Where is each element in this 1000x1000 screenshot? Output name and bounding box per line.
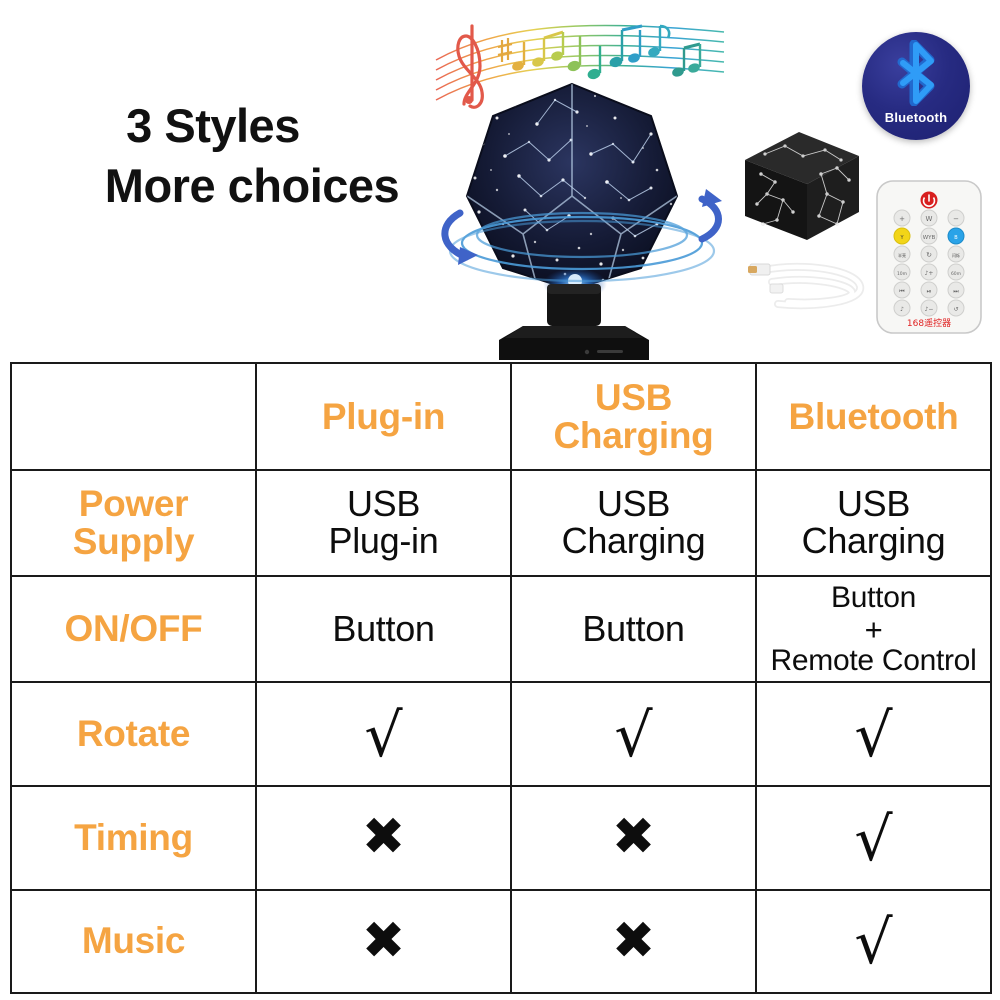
row-label-power-supply: Power Supply xyxy=(11,470,256,576)
table-header-row: Plug-in USB Charging Bluetooth xyxy=(11,363,991,470)
header-cell-bluetooth: Bluetooth xyxy=(756,363,991,470)
row-label-rotate: Rotate xyxy=(11,682,256,786)
cell-onoff-plug-in: Button xyxy=(256,576,511,682)
row-label-power-line2: Supply xyxy=(73,521,195,562)
table-row-power-supply: Power Supply USB Plug-in USB Charging US… xyxy=(11,470,991,576)
remote-control: +W− WYB ↻ 10m♪+60m ⏮⏯⏭ ♪♪−↺ YB 半亮闪烁 168遥… xyxy=(872,178,986,336)
cell-music-usb-charging: ✖ xyxy=(511,890,756,993)
table-row-on-off: ON/OFF Button Button Button + Remote Con… xyxy=(11,576,991,682)
svg-text:B: B xyxy=(954,235,958,241)
check-icon: √ xyxy=(614,712,652,760)
cell-onoff-usb-charging: Button xyxy=(511,576,756,682)
bluetooth-badge-label: Bluetooth xyxy=(862,110,970,125)
cross-icon: ✖ xyxy=(612,817,656,859)
header-cell-plug-in: Plug-in xyxy=(256,363,511,470)
svg-text:↺: ↺ xyxy=(953,306,958,313)
cell-music-plug-in: ✖ xyxy=(256,890,511,993)
comparison-table-wrapper: Plug-in USB Charging Bluetooth Power Sup… xyxy=(0,355,1000,1000)
hero-section: 3 Styles More choices xyxy=(0,0,1000,360)
headline-line-1: 3 Styles xyxy=(52,96,452,156)
cell-power-usb-line1: USB xyxy=(597,483,670,524)
table-row-music: Music ✖ ✖ √ xyxy=(11,890,991,993)
cross-icon: ✖ xyxy=(612,921,656,963)
remote-model-label: 168遥控器 xyxy=(907,317,951,329)
header-usb-line1: USB xyxy=(595,377,672,418)
header-cell-empty xyxy=(11,363,256,470)
cell-rotate-usb-charging: √ xyxy=(511,682,756,786)
cell-onoff-bt-line1: Button xyxy=(831,581,916,614)
table-row-rotate: Rotate √ √ √ xyxy=(11,682,991,786)
cell-power-bt-line1: USB xyxy=(837,483,910,524)
header-usb-line2: Charging xyxy=(554,415,714,456)
svg-text:10m: 10m xyxy=(897,271,907,277)
svg-text:闪烁: 闪烁 xyxy=(952,252,960,258)
cell-power-plug-in-line1: USB xyxy=(347,483,420,524)
svg-text:♪: ♪ xyxy=(900,306,904,313)
rotation-arrows-icon xyxy=(430,185,730,300)
svg-text:−: − xyxy=(953,215,959,223)
cell-onoff-bluetooth: Button + Remote Control xyxy=(756,576,991,682)
svg-text:⏭: ⏭ xyxy=(953,288,959,295)
svg-text:WYB: WYB xyxy=(923,235,936,241)
cell-music-bluetooth: √ xyxy=(756,890,991,993)
cell-power-plug-in: USB Plug-in xyxy=(256,470,511,576)
headline-line-2: More choices xyxy=(52,156,452,216)
svg-text:⏯: ⏯ xyxy=(927,288,932,295)
cell-power-usb-charging: USB Charging xyxy=(511,470,756,576)
cross-icon: ✖ xyxy=(362,921,406,963)
cell-power-bt-line2: Charging xyxy=(802,520,946,561)
header-cell-usb-charging: USB Charging xyxy=(511,363,756,470)
cross-icon: ✖ xyxy=(362,817,406,859)
check-icon: √ xyxy=(854,712,892,760)
comparison-table: Plug-in USB Charging Bluetooth Power Sup… xyxy=(10,362,992,994)
svg-text:W: W xyxy=(926,215,933,223)
svg-text:♪−: ♪− xyxy=(925,306,934,313)
check-icon: √ xyxy=(854,919,892,967)
svg-text:60m: 60m xyxy=(951,271,961,277)
bluetooth-icon xyxy=(888,40,944,106)
cell-rotate-plug-in: √ xyxy=(256,682,511,786)
product-comparison-image: 3 Styles More choices xyxy=(0,0,1000,1000)
row-label-power-line1: Power xyxy=(79,483,189,524)
row-label-timing: Timing xyxy=(11,786,256,890)
cell-onoff-bt-plus: + xyxy=(759,614,988,645)
cell-power-plug-in-line2: Plug-in xyxy=(329,520,439,561)
cell-timing-bluetooth: √ xyxy=(756,786,991,890)
cell-timing-plug-in: ✖ xyxy=(256,786,511,890)
page-title: 3 Styles More choices xyxy=(52,96,452,216)
svg-text:半亮: 半亮 xyxy=(898,252,906,258)
cell-onoff-bt-line3: Remote Control xyxy=(771,644,977,677)
bluetooth-badge: Bluetooth xyxy=(862,32,970,140)
cell-power-bluetooth: USB Charging xyxy=(756,470,991,576)
svg-text:↻: ↻ xyxy=(926,251,932,259)
cell-rotate-bluetooth: √ xyxy=(756,682,991,786)
cell-timing-usb-charging: ✖ xyxy=(511,786,756,890)
row-label-music: Music xyxy=(11,890,256,993)
cell-power-usb-line2: Charging xyxy=(562,520,706,561)
svg-text:+: + xyxy=(899,215,905,223)
svg-text:⏮: ⏮ xyxy=(899,288,905,295)
check-icon: √ xyxy=(364,712,402,760)
constellation-gift-box xyxy=(737,124,865,249)
svg-text:♪+: ♪+ xyxy=(925,270,934,277)
table-row-timing: Timing ✖ ✖ √ xyxy=(11,786,991,890)
check-icon: √ xyxy=(854,816,892,864)
row-label-on-off: ON/OFF xyxy=(11,576,256,682)
usb-cable xyxy=(744,248,874,320)
